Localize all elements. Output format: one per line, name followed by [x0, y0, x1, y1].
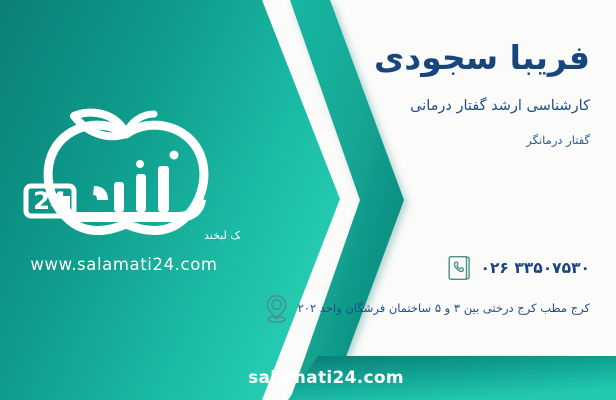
footer-bar: salamati24.com — [0, 356, 616, 400]
location-pin-icon — [260, 289, 294, 327]
person-name: فریبا سجودی — [374, 38, 590, 77]
persian-wordmark — [58, 151, 206, 223]
footer-website: salamati24.com — [0, 356, 616, 400]
svg-text:24: 24 — [33, 187, 66, 215]
contact-row-phone: ۳۳۵۰۷۵۳۰ ۰۲۶ — [443, 249, 596, 287]
business-card: 24 برای یک لبخند www.salamati24.com فریب… — [0, 0, 616, 400]
phonebook-icon — [443, 249, 477, 287]
logo-website: www.salamati24.com — [8, 255, 240, 274]
contact-row-address: کرج مطب کرج درختی بین ۳ و ۵ ساختمان فرشگ… — [260, 289, 596, 327]
phone-number: ۳۳۵۰۷۵۳۰ ۰۲۶ — [477, 259, 596, 277]
salamati24-apple-logo: 24 برای یک لبخند — [8, 108, 240, 248]
person-role: گفتار درمانگر — [526, 133, 590, 147]
person-degree: کارشناسی ارشد گفتار درمانی — [410, 98, 590, 114]
logo-slogan: برای یک لبخند — [204, 229, 240, 242]
address-text: کرج مطب کرج درختی بین ۳ و ۵ ساختمان فرشگ… — [294, 301, 596, 315]
logo-block: 24 برای یک لبخند www.salamati24.com — [8, 108, 240, 276]
